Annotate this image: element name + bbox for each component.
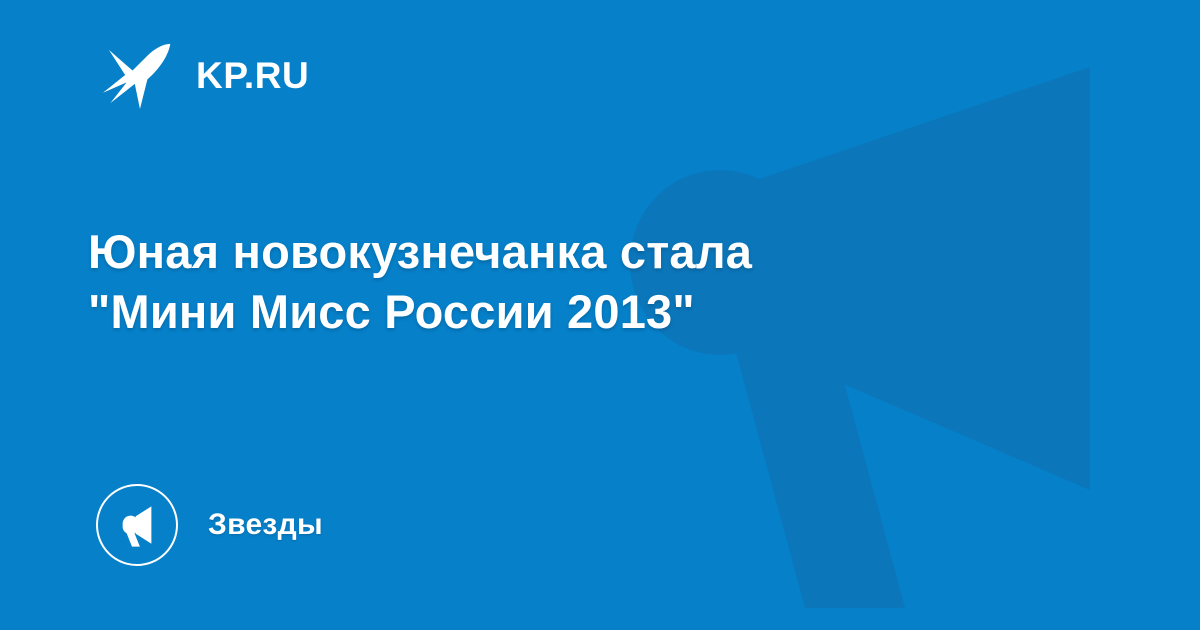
page-title-line-1: Юная новокузнечанка стала [88, 222, 988, 282]
page-title-line-2: "Мини Мисс России 2013" [88, 282, 988, 342]
megaphone-icon [114, 502, 160, 548]
swallow-bird-icon [100, 38, 174, 112]
category-badge[interactable]: Звезды [96, 482, 323, 568]
category-icon-ring [96, 484, 178, 566]
social-share-card: KP.RU Юная новокузнечанка стала "Мини Ми… [0, 0, 1200, 630]
brand-header[interactable]: KP.RU [100, 34, 309, 116]
brand-name: KP.RU [196, 57, 309, 94]
category-label: Звезды [208, 510, 323, 540]
page-title: Юная новокузнечанка стала "Мини Мисс Рос… [88, 222, 988, 342]
